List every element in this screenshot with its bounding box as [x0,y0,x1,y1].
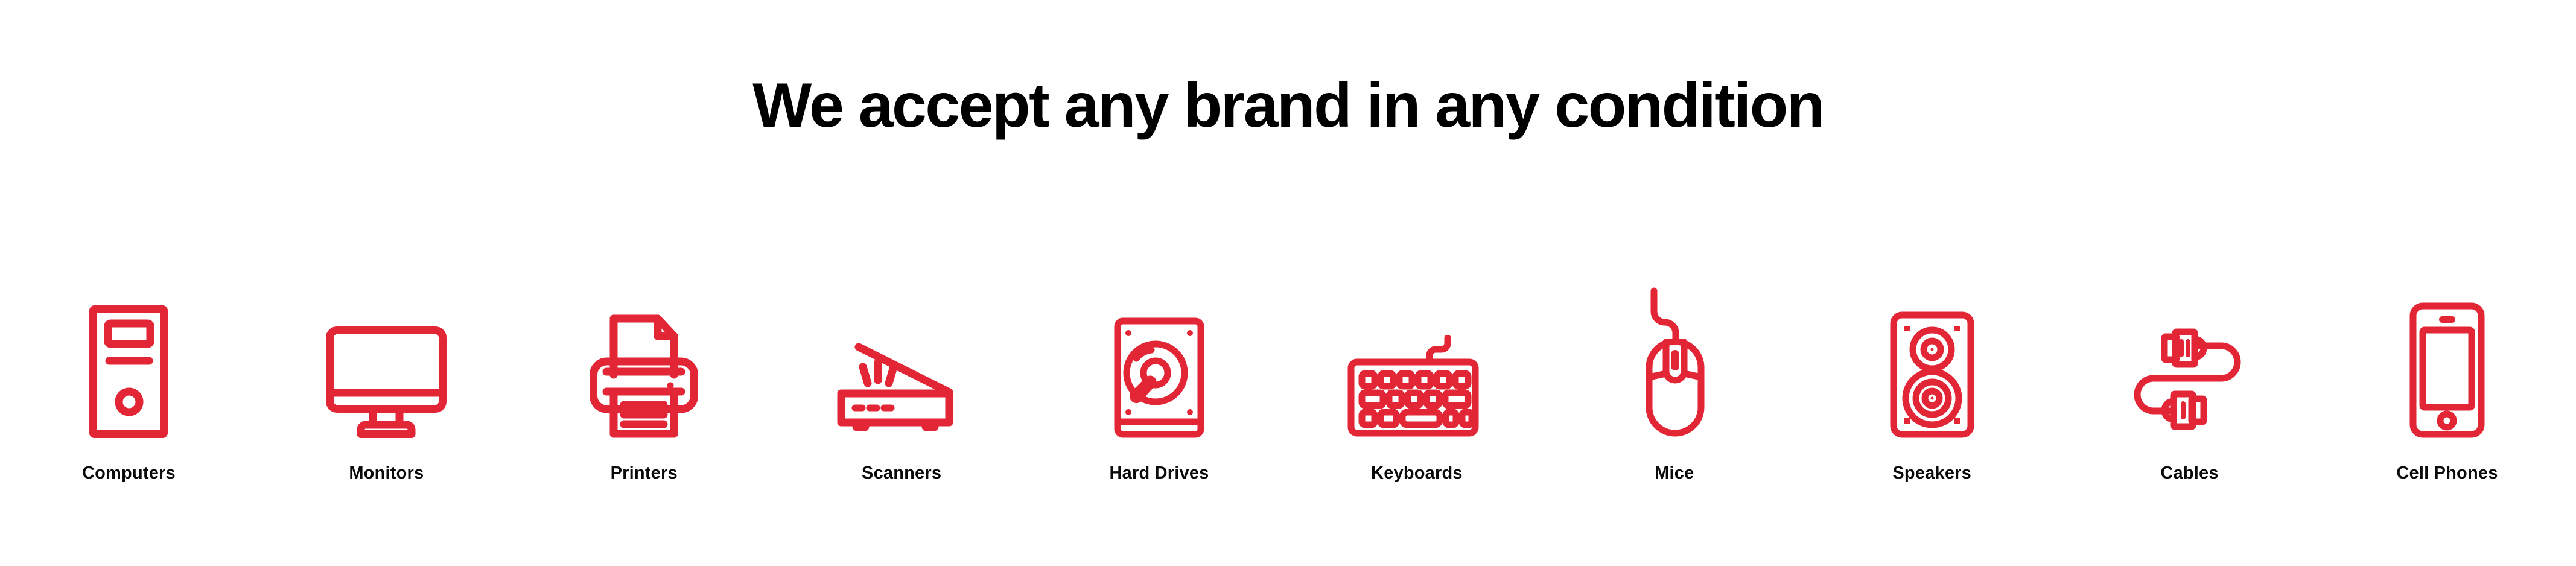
category-item-printers[interactable]: Printers [515,259,773,483]
category-item-speakers[interactable]: Speakers [1803,259,2061,483]
category-item-keyboards[interactable]: Keyboards [1288,259,1545,483]
category-label: Cell Phones [2396,463,2498,483]
category-label: Monitors [349,463,424,483]
printer-icon [553,259,734,440]
category-item-computers[interactable]: Computers [0,259,258,483]
category-label: Keyboards [1371,463,1463,483]
category-item-cables[interactable]: Cables [2061,259,2318,483]
category-label: Hard Drives [1110,463,1209,483]
category-label: Mice [1655,463,1694,483]
page-root: We accept any brand in any condition Com… [0,0,2576,566]
computer-tower-icon [38,259,219,440]
cable-icon [2099,259,2280,440]
category-item-hard-drives[interactable]: Hard Drives [1031,259,1288,483]
cell-phone-icon [2356,259,2537,440]
speaker-icon [1842,259,2023,440]
hard-drive-icon [1069,259,1250,440]
category-item-monitors[interactable]: Monitors [258,259,515,483]
category-item-scanners[interactable]: Scanners [773,259,1031,483]
category-item-mice[interactable]: Mice [1545,259,1803,483]
category-label: Printers [611,463,678,483]
monitor-icon [296,259,477,440]
scanner-icon [811,259,992,440]
category-item-cell-phones[interactable]: Cell Phones [2318,259,2576,483]
category-list: Computers Monitors [0,259,2576,483]
category-label: Computers [82,463,176,483]
mouse-icon [1584,259,1765,440]
category-label: Speakers [1892,463,1971,483]
category-label: Cables [2160,463,2218,483]
keyboard-icon [1326,259,1507,440]
page-title: We accept any brand in any condition [0,71,2576,140]
category-label: Scanners [862,463,941,483]
